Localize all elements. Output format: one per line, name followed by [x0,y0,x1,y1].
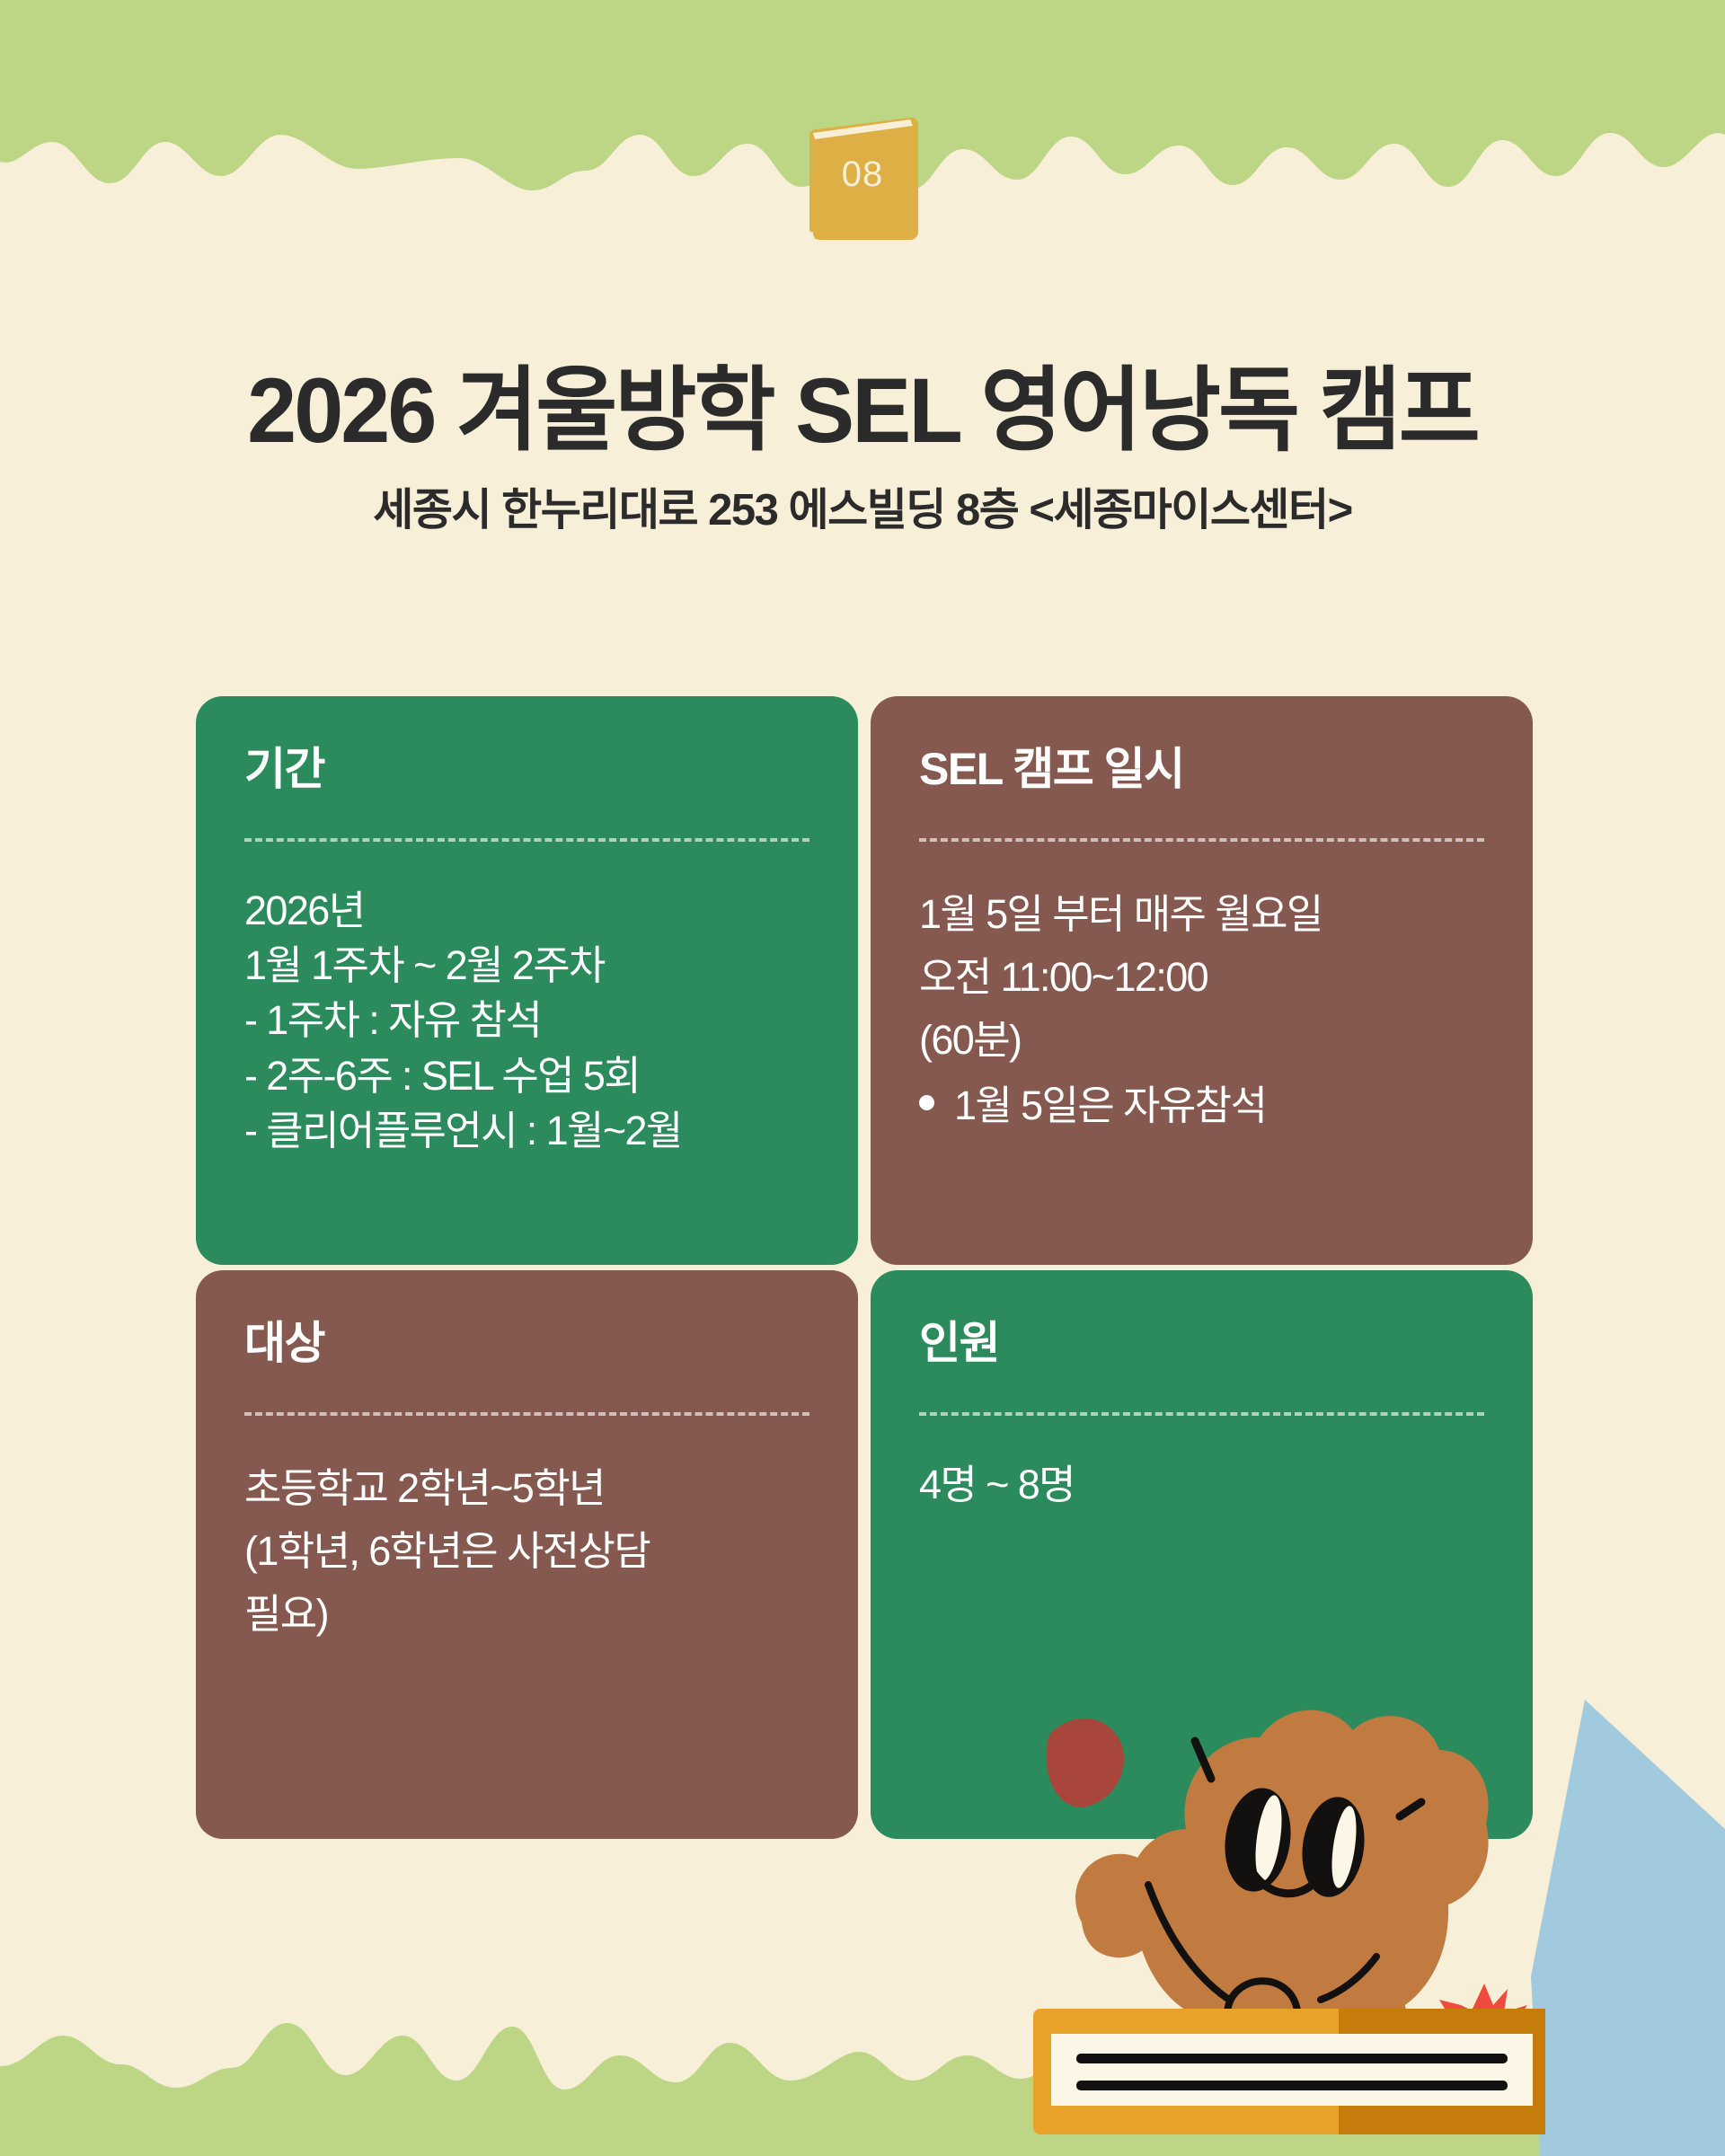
card-title: 인원 [919,1321,1488,1365]
card-title: 대상 [244,1321,813,1365]
wavy-bottom-decoration [0,1949,1725,2156]
mascot-smile [1252,1872,1321,1894]
book-stack-cover [1033,2009,1545,2134]
poster-canvas: 08 2026 겨울방학 SEL 영어낭독 캠프 세종시 한누리대로 253 에… [0,0,1725,2156]
book-stack-line-2 [1076,2081,1508,2090]
card-body: 1월 5일 부터 매주 월요일 오전 11:00~12:00 (60분) [919,883,1488,1071]
card-bullet-label: 1월 5일은 자유참석 [954,1074,1266,1137]
card-body: 2026년 1월 1주차 ~ 2월 2주차 - 1주차 : 자유 참석 - 2주… [244,883,813,1158]
book-stack-pages [1051,2034,1533,2106]
mascot-belly-line [1227,1981,1297,2012]
info-card-grid: 기간 2026년 1월 1주차 ~ 2월 2주차 - 1주차 : 자유 참석 -… [196,696,1533,1839]
card-bullet-item: 1월 5일은 자유참석 [919,1074,1488,1137]
card-body: 초등학교 2학년~5학년 (1학년, 6학년은 사전상담 필요) [244,1457,813,1645]
mascot-fur-line-left [1148,1885,1229,2000]
blue-ribbon-shape [1531,1700,1725,2156]
bullet-dot-icon [919,1095,934,1110]
info-card-schedule: SEL 캠프 일시 1월 5일 부터 매주 월요일 오전 11:00~12:00… [871,696,1533,1265]
book-stack-line-1 [1076,2054,1508,2063]
page-title: 2026 겨울방학 SEL 영어낭독 캠프 [26,361,1699,460]
mascot-paw [1075,1854,1164,1957]
info-card-period: 기간 2026년 1월 1주차 ~ 2월 2주차 - 1주차 : 자유 참석 -… [196,696,858,1265]
card-divider [244,1412,809,1416]
info-card-target: 대상 초등학교 2학년~5학년 (1학년, 6학년은 사전상담 필요) [196,1270,858,1839]
card-title: 기간 [244,747,813,791]
book-stack-cover-shadow [1339,2009,1545,2134]
card-title: SEL 캠프 일시 [919,747,1488,791]
red-leaf-icon [1429,1984,1536,2075]
info-card-capacity: 인원 4명 ~ 8명 [871,1270,1533,1839]
card-divider [244,838,809,842]
page-subtitle: 세종시 한누리대로 253 에스빌딩 8층 <세종마이스센터> [0,474,1725,538]
card-body: 4명 ~ 8명 [919,1457,1488,1512]
card-divider [919,1412,1484,1416]
chapter-badge: 08 [0,106,1725,250]
mascot-fur-line-right [1321,1957,1376,2000]
book-icon: 08 [795,106,930,250]
card-divider [919,838,1484,842]
